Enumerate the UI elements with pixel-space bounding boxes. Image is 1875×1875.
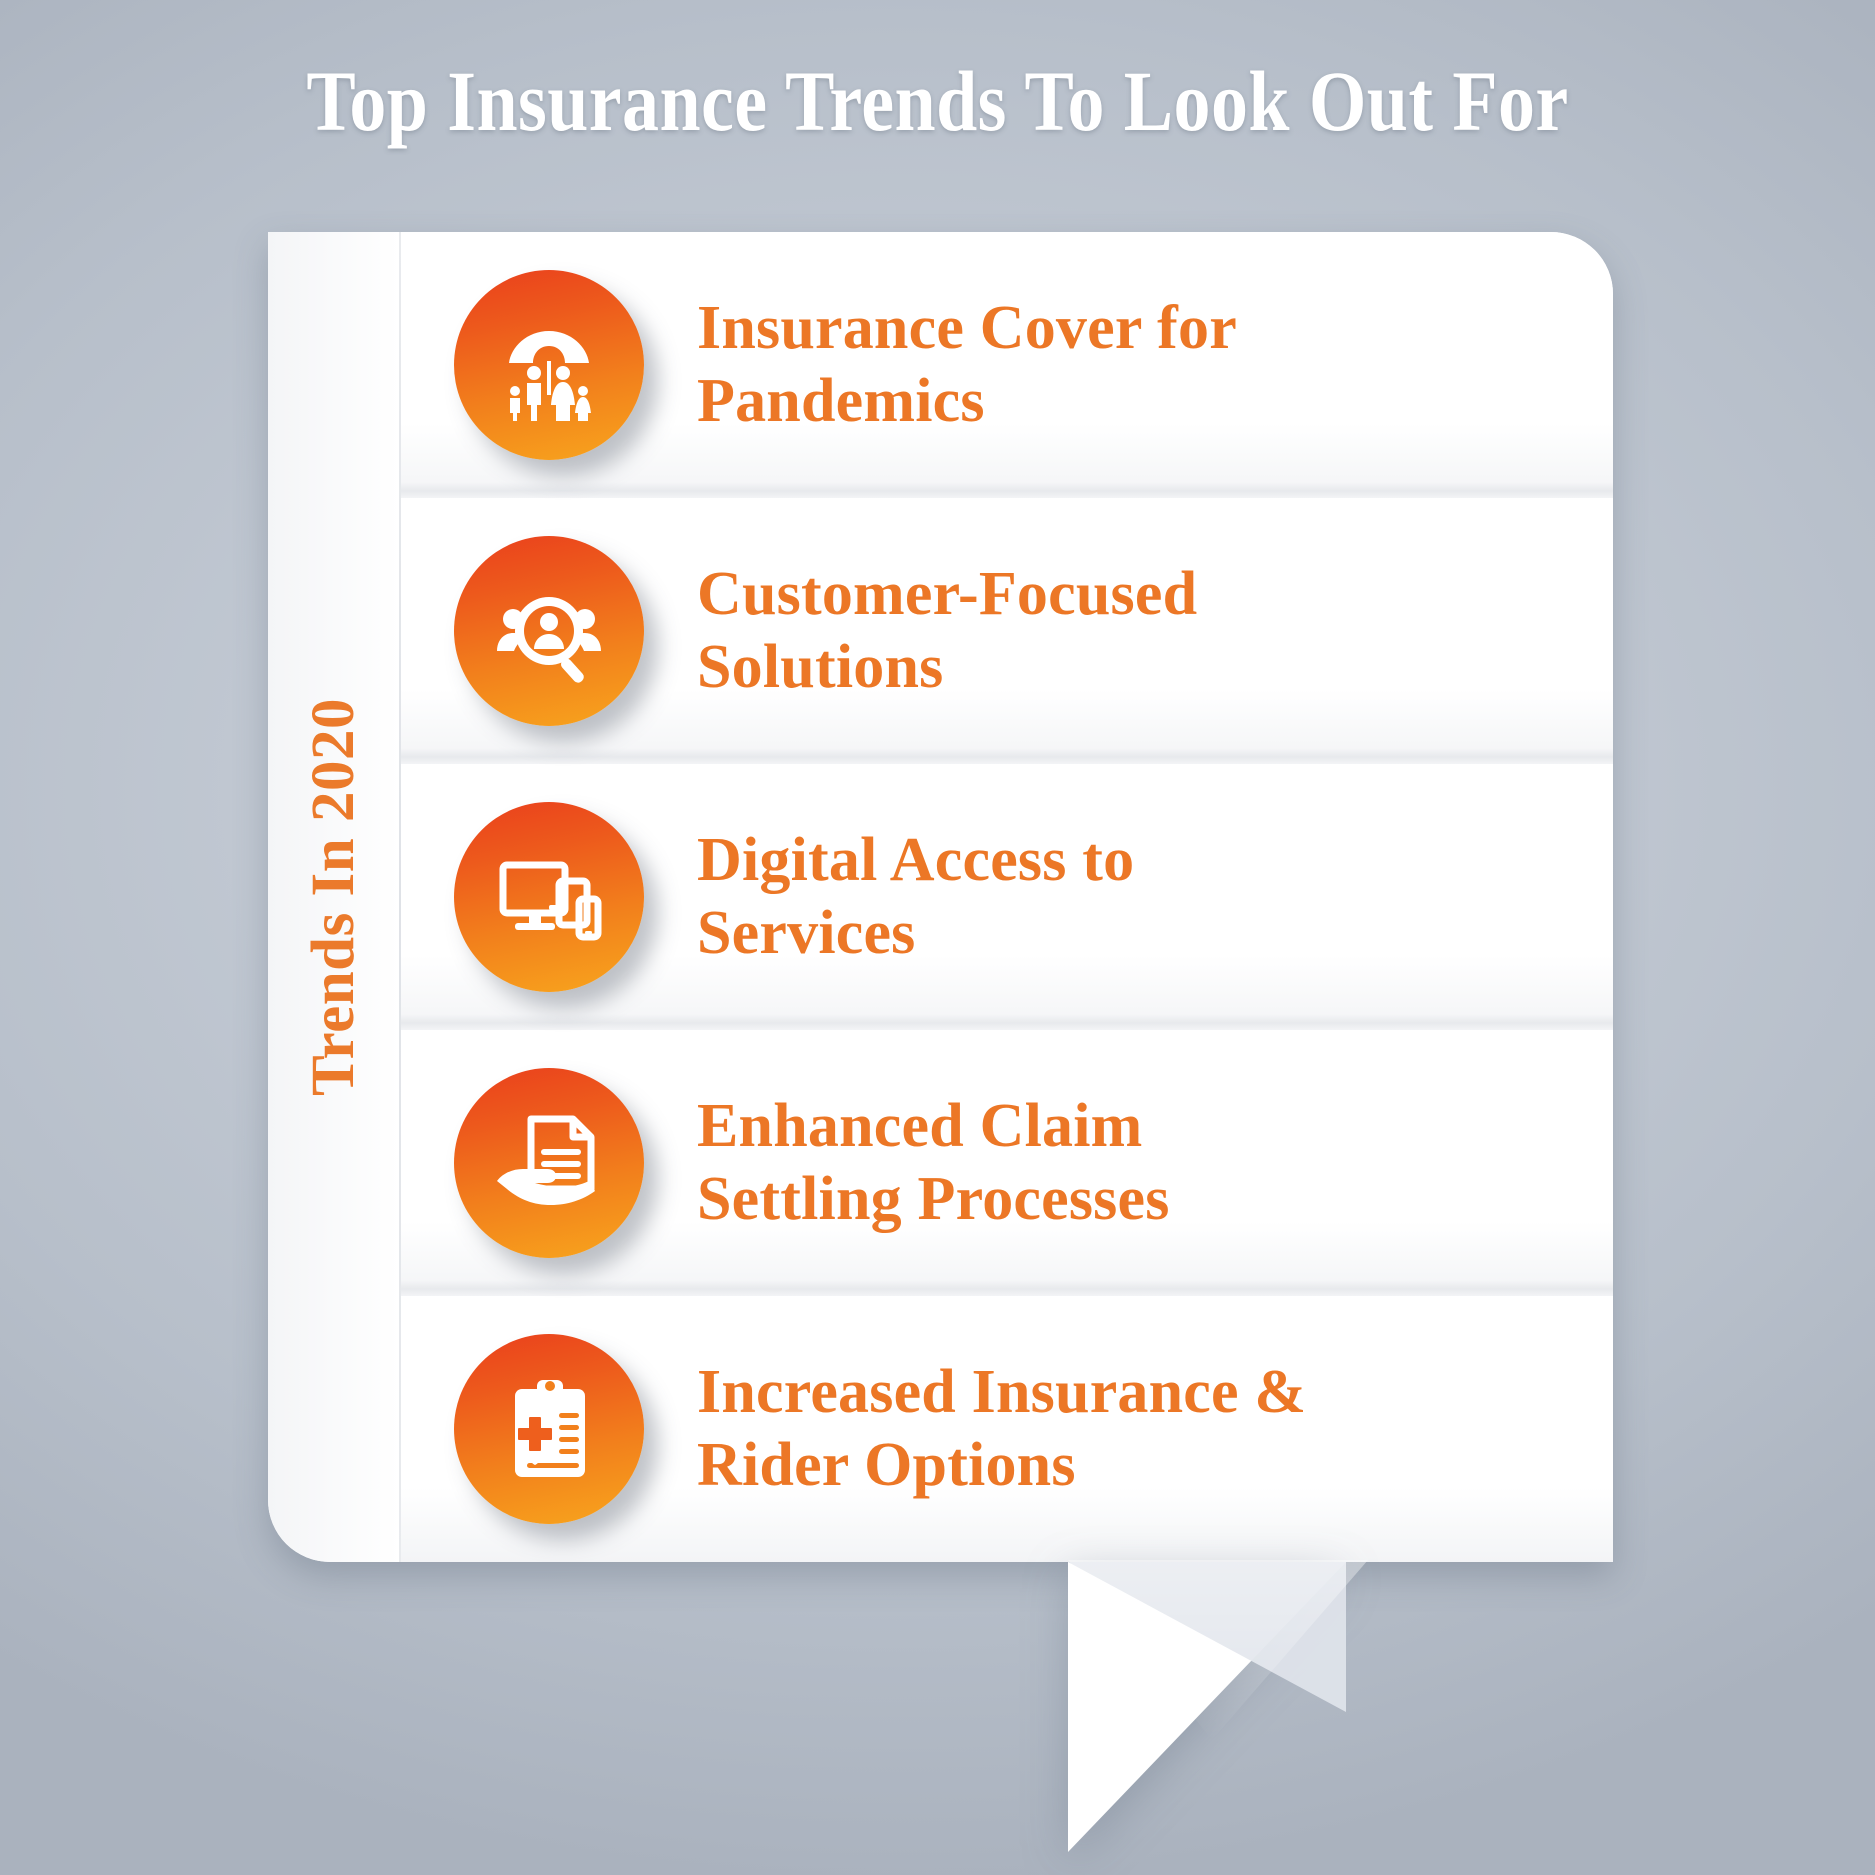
family-umbrella-icon — [493, 309, 605, 421]
icon-cell — [401, 536, 697, 726]
trends-card: Trends In 2020 — [268, 232, 1613, 1562]
devices-monitor-tablet-phone-icon — [493, 841, 605, 953]
list-item[interactable]: Digital Access to Services — [401, 764, 1613, 1030]
list-item[interactable]: Customer-Focused Solutions — [401, 498, 1613, 764]
speech-bubble-tail — [1068, 1562, 1408, 1862]
icon-circle — [454, 536, 644, 726]
list-item-label-line2: Services — [697, 897, 1559, 970]
page-title: Top Insurance Trends To Look Out For — [131, 56, 1744, 146]
icon-circle — [454, 1334, 644, 1524]
list-item-label-line1: Insurance Cover for — [697, 294, 1237, 362]
list-item[interactable]: Enhanced Claim Settling Processes — [401, 1030, 1613, 1296]
speech-bubble-card: Trends In 2020 — [268, 232, 1613, 1562]
list-item-label: Insurance Cover for Pandemics — [697, 292, 1613, 438]
list-item-label-line2: Pandemics — [697, 365, 1559, 438]
list-item[interactable]: Insurance Cover for Pandemics — [401, 232, 1613, 498]
vertical-label-text: Trends In 2020 — [299, 698, 369, 1096]
list-item-label: Enhanced Claim Settling Processes — [697, 1090, 1613, 1236]
trends-list: Insurance Cover for Pandemics — [401, 232, 1613, 1562]
vertical-label-strip: Trends In 2020 — [268, 232, 400, 1562]
list-item-label-line2: Settling Processes — [697, 1163, 1559, 1236]
clipboard-medical-shield-icon — [493, 1373, 605, 1485]
icon-cell — [401, 270, 697, 460]
icon-circle — [454, 1068, 644, 1258]
list-item-label-line2: Solutions — [697, 631, 1559, 704]
hand-holding-document-icon — [493, 1107, 605, 1219]
customer-magnifier-icon — [493, 575, 605, 687]
list-item-label: Digital Access to Services — [697, 824, 1613, 970]
list-item-label: Customer-Focused Solutions — [697, 558, 1613, 704]
icon-cell — [401, 1334, 697, 1524]
list-item-label: Increased Insurance & Rider Options — [697, 1356, 1613, 1502]
list-item-label-line2: Rider Options — [697, 1429, 1559, 1502]
icon-circle — [454, 270, 644, 460]
tail-fold-triangle — [1068, 1562, 1346, 1712]
list-item-label-line1: Increased Insurance & — [697, 1358, 1306, 1426]
list-item-label-line1: Customer-Focused — [697, 560, 1197, 628]
icon-circle — [454, 802, 644, 992]
list-item-label-line1: Digital Access to — [697, 826, 1134, 894]
list-item[interactable]: Increased Insurance & Rider Options — [401, 1296, 1613, 1562]
list-item-label-line1: Enhanced Claim — [697, 1092, 1143, 1160]
icon-cell — [401, 1068, 697, 1258]
icon-cell — [401, 802, 697, 992]
